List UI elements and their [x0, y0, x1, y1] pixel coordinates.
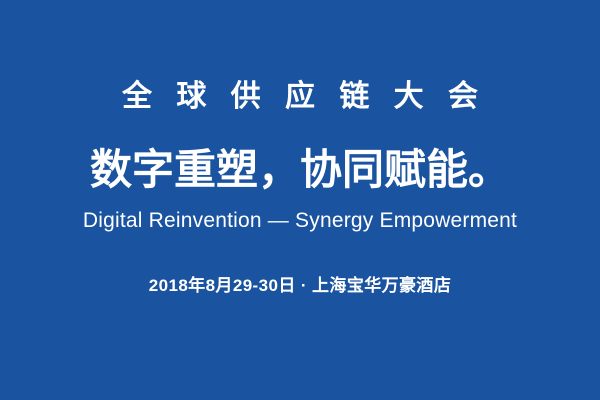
conference-poster: 全 球 供 应 链 大 会 数字重塑，协同赋能。 Digital Reinven…	[0, 0, 600, 400]
slogan-heading: 数字重塑，协同赋能。	[0, 149, 600, 191]
date-and-venue-text: 2018年8月29-30日 · 上海宝华万豪酒店	[0, 277, 600, 294]
english-subtitle: Digital Reinvention — Synergy Empowermen…	[0, 210, 600, 231]
event-name-heading: 全 球 供 应 链 大 会	[0, 82, 600, 112]
